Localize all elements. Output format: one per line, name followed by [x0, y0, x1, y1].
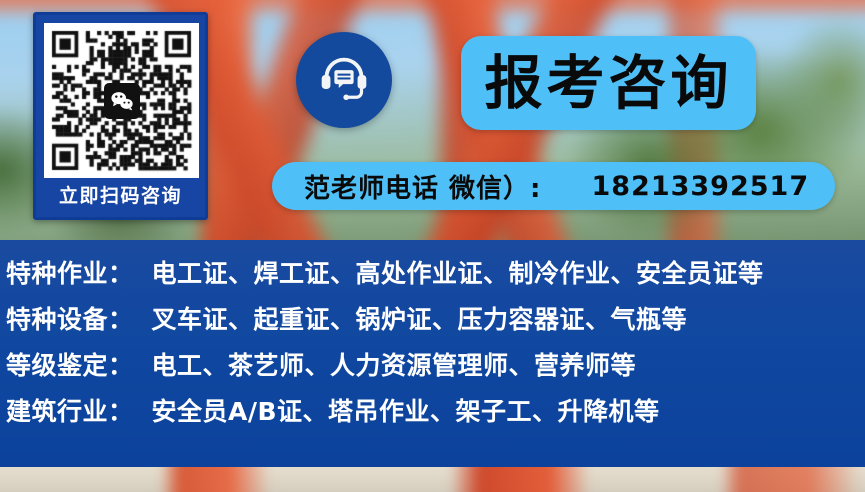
category-row-grade-assessment: 等级鉴定： 电工、茶艺师、人力资源管理师、营养师等: [0, 346, 865, 392]
apply-consult-button-label: 报考咨询: [484, 54, 732, 112]
category-label: 特种作业：: [6, 254, 134, 290]
category-row-construction-industry: 建筑行业： 安全员A/B证、塔吊作业、架子工、升降机等: [0, 392, 865, 438]
headset-support-badge[interactable]: [296, 32, 392, 128]
qr-card-caption: 立即扫码咨询: [36, 178, 205, 214]
footer-photo-strip: [0, 467, 865, 492]
wechat-icon: [104, 83, 140, 119]
category-items: 安全员A/B证、塔吊作业、架子工、升降机等: [152, 392, 660, 428]
footer-background-photo: [0, 467, 865, 492]
contact-phone-number[interactable]: 18213392517: [591, 171, 809, 202]
qr-code-card[interactable]: 立即扫码咨询: [33, 12, 208, 220]
category-row-special-equipment: 特种设备： 叉车证、起重证、锅炉证、压力容器证、气瓶等: [0, 300, 865, 346]
promo-poster: 立即扫码咨询 报考咨询 范老师电话 微信）: 18213392517: [0, 0, 865, 492]
headset-support-icon: [316, 50, 372, 110]
category-label: 建筑行业：: [6, 392, 134, 428]
certificate-category-panel: 特种作业： 电工证、焊工证、高处作业证、制冷作业、安全员证等 特种设备： 叉车证…: [0, 240, 865, 467]
category-row-special-operations: 特种作业： 电工证、焊工证、高处作业证、制冷作业、安全员证等: [0, 254, 865, 300]
contact-phone-bar[interactable]: 范老师电话 微信）: 18213392517: [272, 162, 835, 210]
apply-consult-button[interactable]: 报考咨询: [461, 36, 756, 130]
category-label: 等级鉴定：: [6, 346, 134, 382]
qr-code-image[interactable]: [44, 23, 199, 178]
category-label: 特种设备：: [6, 300, 134, 336]
category-items: 电工证、焊工证、高处作业证、制冷作业、安全员证等: [152, 254, 764, 290]
contact-phone-label: 范老师电话 微信）:: [304, 168, 541, 205]
category-items: 叉车证、起重证、锅炉证、压力容器证、气瓶等: [152, 300, 688, 336]
category-items: 电工、茶艺师、人力资源管理师、营养师等: [152, 346, 637, 382]
